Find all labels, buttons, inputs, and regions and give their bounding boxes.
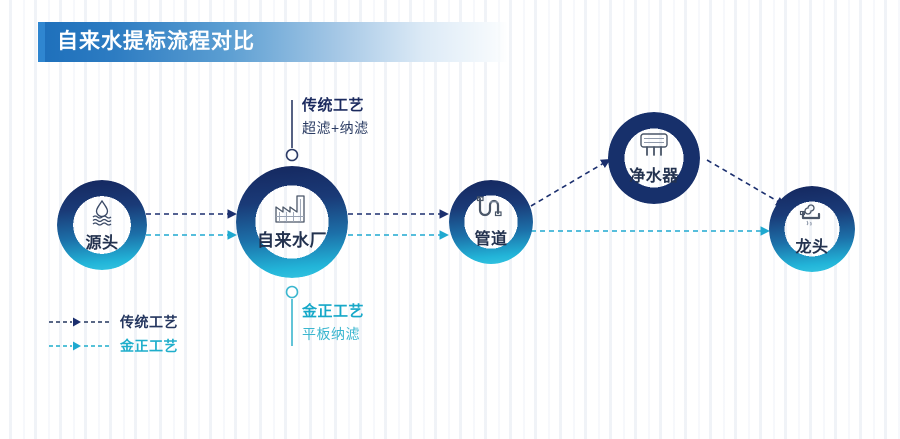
callout-stem-bottom <box>287 287 298 347</box>
flow-purifier-to-faucet-traditional <box>707 160 784 205</box>
legend-key-jinzheng-icon <box>48 340 110 352</box>
legend-item-traditional: 传统工艺 <box>48 312 178 332</box>
purifier-icon <box>637 131 671 159</box>
node-purifier[interactable]: 净水器 <box>608 112 700 204</box>
title-accent-bar <box>38 22 45 62</box>
node-label: 龙头 <box>795 233 828 257</box>
node-pipeline[interactable]: 管道 <box>449 180 533 264</box>
flow-pipeline-to-purifier-traditional <box>531 160 609 206</box>
node-label: 净水器 <box>629 162 679 186</box>
legend-key-traditional-icon <box>48 316 110 328</box>
callout-jinzheng: 金正工艺 平板纳滤 <box>302 300 364 344</box>
diagram-canvas: 自来水提标流程对比 <box>0 0 900 439</box>
legend-item-jinzheng: 金正工艺 <box>48 336 178 356</box>
callout-jinzheng-title: 金正工艺 <box>302 300 364 321</box>
faucet-icon <box>795 202 829 230</box>
node-faucet[interactable]: 龙头 <box>769 186 855 272</box>
node-waterplant[interactable]: 自来水厂 <box>236 166 348 278</box>
callout-jinzheng-subtitle: 平板纳滤 <box>302 324 364 344</box>
callout-traditional-title: 传统工艺 <box>302 94 369 115</box>
callout-stem-top <box>287 100 298 161</box>
legend: 传统工艺 金正工艺 <box>48 312 178 360</box>
node-label: 自来水厂 <box>257 226 327 251</box>
legend-label-jinzheng: 金正工艺 <box>120 336 178 356</box>
node-label: 管道 <box>474 225 507 249</box>
node-source[interactable]: 源头 <box>57 180 147 270</box>
pipe-icon <box>475 196 507 222</box>
node-label: 源头 <box>85 229 118 253</box>
callout-traditional: 传统工艺 超滤+纳滤 <box>302 94 369 138</box>
water-drop-waves-icon <box>87 198 117 226</box>
legend-label-traditional: 传统工艺 <box>120 312 178 332</box>
callout-traditional-subtitle: 超滤+纳滤 <box>302 118 369 138</box>
page-title: 自来水提标流程对比 <box>57 22 255 62</box>
factory-icon <box>273 193 311 223</box>
